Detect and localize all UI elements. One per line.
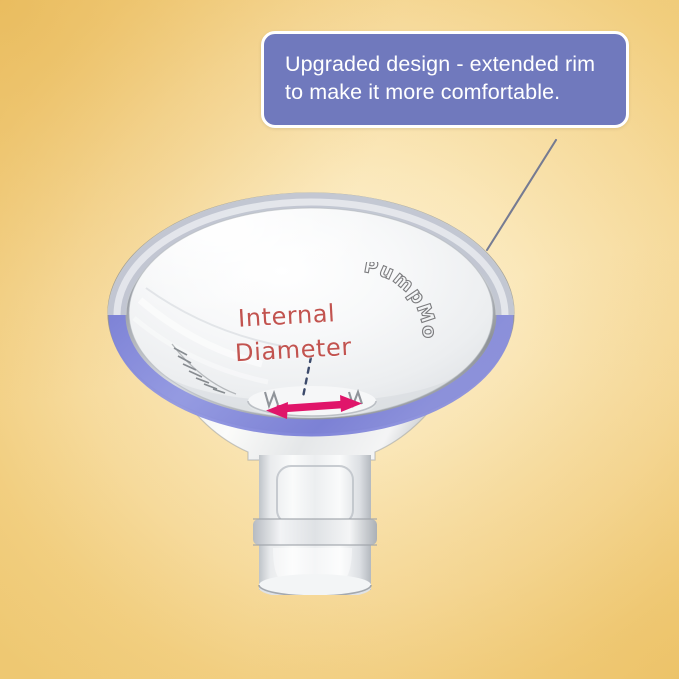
product-image-canvas: PumpMom Upgraded design - extended rim t… (0, 0, 679, 679)
internal-diameter-label-line1: Internal (237, 299, 336, 332)
connector-neck (253, 452, 377, 599)
callout-leader-line (487, 140, 556, 250)
callout-box: Upgraded design - extended rim to make i… (261, 31, 629, 128)
callout-text: Upgraded design - extended rim to make i… (285, 51, 606, 106)
